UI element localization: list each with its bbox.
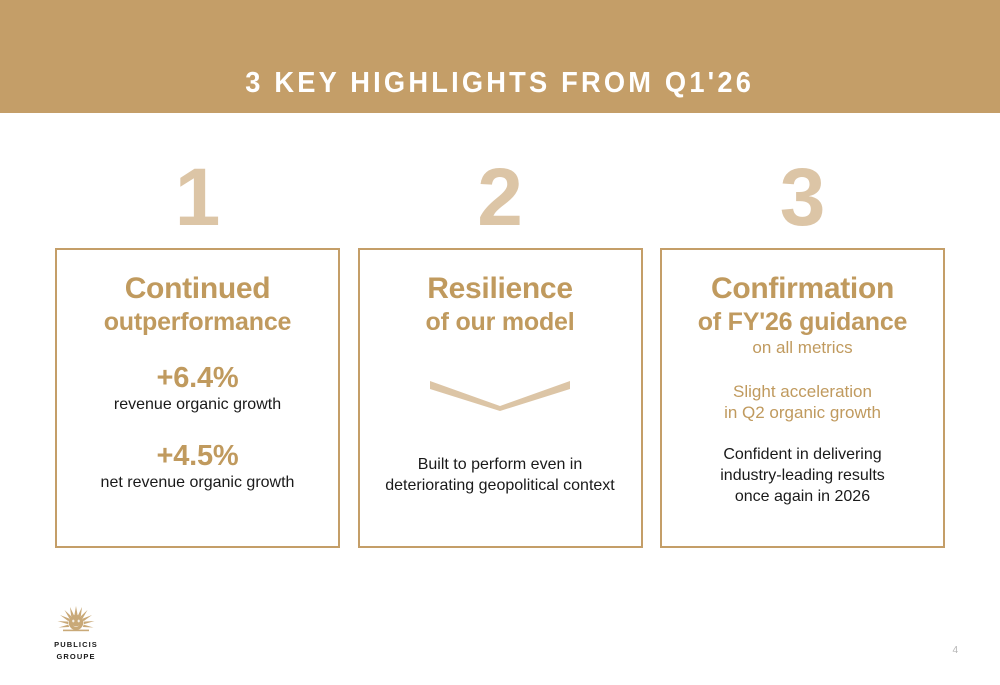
card-3-highlight-line1: Slight acceleration: [733, 381, 872, 402]
card-1-title-line1: Continued: [125, 272, 271, 307]
card-1-metric-1-label: revenue organic growth: [114, 395, 281, 415]
highlights-columns: 1 Continued outperformance +6.4% revenue…: [55, 148, 945, 548]
highlight-card-2[interactable]: Resilience of our model Built to perform…: [358, 248, 643, 548]
card-3-title-line1: Confirmation: [711, 272, 894, 307]
sunburst-lion-logo-icon: [53, 604, 99, 634]
page-title: 3 KEY HIGHLIGHTS FROM Q1'26: [246, 69, 755, 113]
card-2-body-line1: Built to perform even in: [418, 455, 583, 476]
card-1-metric-2-value: +4.5%: [156, 441, 238, 473]
card-3-highlight-line2: in Q2 organic growth: [724, 402, 881, 423]
publicis-groupe-logo: PUBLICIS GROUPE: [48, 604, 104, 663]
card-3-body-line1: Confident in delivering: [723, 445, 881, 466]
card-2-title-line2: of our model: [426, 308, 575, 338]
highlight-number-1: 1: [175, 148, 221, 248]
card-1-metric-2-label: net revenue organic growth: [101, 473, 295, 493]
logo-text-line1: PUBLICIS: [48, 640, 104, 651]
highlight-column-1: 1 Continued outperformance +6.4% revenue…: [55, 148, 340, 548]
highlight-column-3: 3 Confirmation of FY'26 guidance on all …: [660, 148, 945, 548]
logo-text-line2: GROUPE: [48, 652, 104, 663]
card-3-body-line2: industry-leading results: [720, 466, 885, 487]
card-2-title-line1: Resilience: [427, 272, 572, 307]
card-1-metric-1-value: +6.4%: [156, 363, 238, 395]
highlight-card-1[interactable]: Continued outperformance +6.4% revenue o…: [55, 248, 340, 548]
card-3-body-line3: once again in 2026: [735, 487, 870, 508]
slide-body: 1 Continued outperformance +6.4% revenue…: [0, 113, 1000, 685]
card-3-title-line2: of FY'26 guidance: [698, 308, 908, 338]
card-1-title-line2: outperformance: [104, 308, 292, 338]
card-3-subtitle: on all metrics: [752, 337, 852, 358]
highlight-column-2: 2 Resilience of our model Built to perfo…: [358, 148, 643, 548]
page-number: 4: [952, 645, 958, 656]
card-2-body-line2: deteriorating geopolitical context: [385, 476, 614, 497]
highlight-number-3: 3: [780, 148, 826, 248]
highlight-number-2: 2: [477, 148, 523, 248]
highlight-card-3[interactable]: Confirmation of FY'26 guidance on all me…: [660, 248, 945, 548]
slide-header-band: 3 KEY HIGHLIGHTS FROM Q1'26: [0, 0, 1000, 113]
chevron-down-icon: [430, 377, 570, 411]
